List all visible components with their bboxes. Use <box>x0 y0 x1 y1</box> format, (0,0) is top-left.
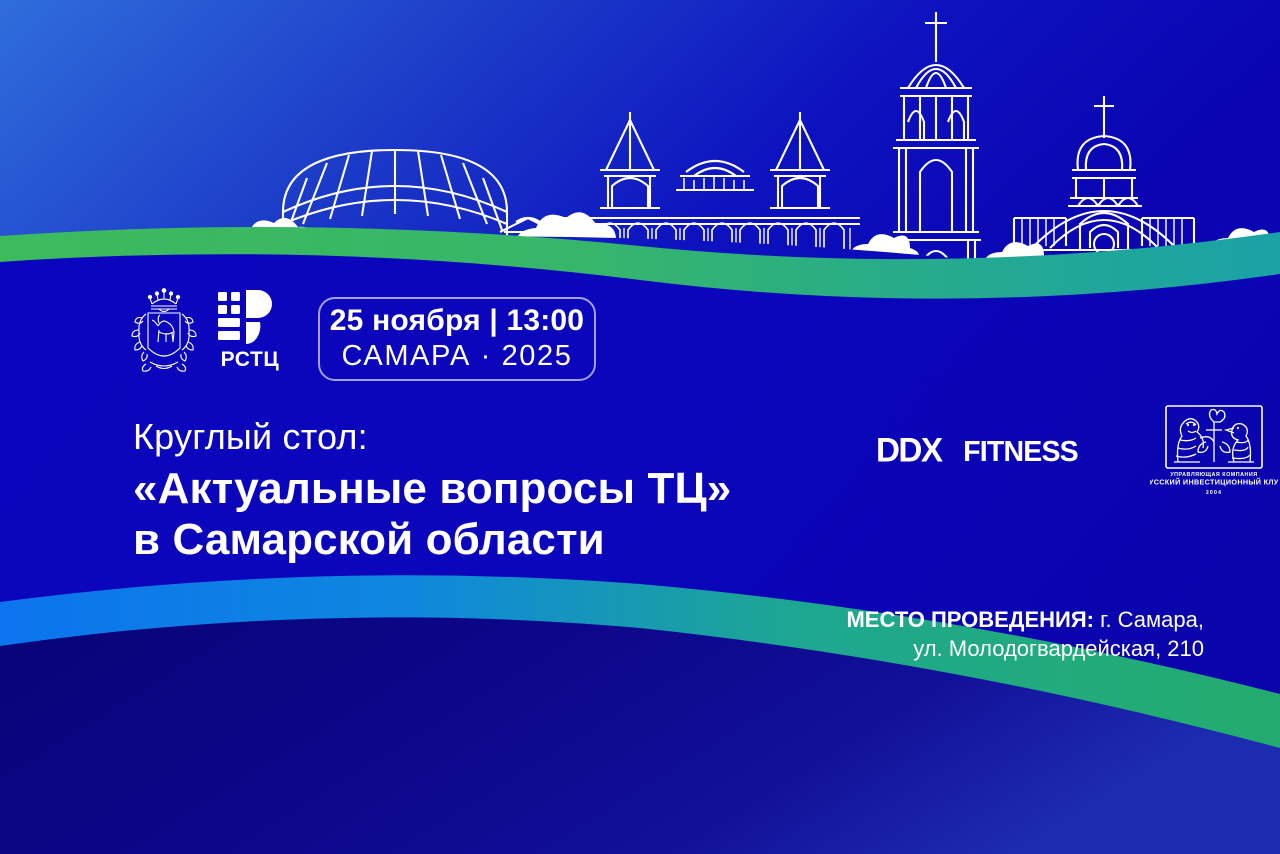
rstc-label: РСТЦ <box>221 348 280 371</box>
venue-info: МЕСТО ПРОВЕДЕНИЯ: г. Самара, ул. Молодог… <box>846 605 1204 663</box>
russian-investment-club-logo: УПРАВЛЯЮЩАЯ КОМПАНИЯ РУССКИЙ ИНВЕСТИЦИОН… <box>1150 404 1278 496</box>
venue-label: МЕСТО ПРОВЕДЕНИЯ: <box>846 607 1094 632</box>
sponsor-logos: DDX FITNESS <box>876 404 1278 496</box>
fitness-wordmark-text: FITNESS <box>963 436 1078 468</box>
samara-region-coat-of-arms <box>126 286 202 382</box>
ric-line-2: РУССКИЙ ИНВЕСТИЦИОННЫЙ КЛУБ <box>1150 478 1278 487</box>
rstc-logo: РСТЦ <box>216 288 286 380</box>
ddx-fitness-logo: DDX FITNESS <box>876 431 1114 469</box>
page-title: Круглый стол: «Актуальные вопросы ТЦ» в … <box>133 418 731 565</box>
headline-line-3: в Самарской области <box>133 514 731 565</box>
ric-year: 2004 <box>1205 490 1221 496</box>
date-badge: 25 ноября | 13:00 САМАРА · 2025 <box>318 297 596 381</box>
event-poster: РСТЦ 25 ноября | 13:00 САМАРА · 2025 Кру… <box>0 0 1280 854</box>
date-time-text: 25 ноября | 13:00 <box>330 306 584 336</box>
headline-line-1: Круглый стол: <box>133 418 731 457</box>
venue-city: г. Самара, <box>1094 607 1204 632</box>
headline-line-2: «Актуальные вопросы ТЦ» <box>133 463 731 514</box>
city-year-text: САМАРА · 2025 <box>342 342 573 371</box>
organizer-logos: РСТЦ <box>126 286 286 382</box>
lion-and-bird-emblem <box>1174 410 1254 463</box>
venue-address: ул. Молодогвардейская, 210 <box>846 634 1204 663</box>
ddx-wordmark: DDX <box>876 432 944 469</box>
